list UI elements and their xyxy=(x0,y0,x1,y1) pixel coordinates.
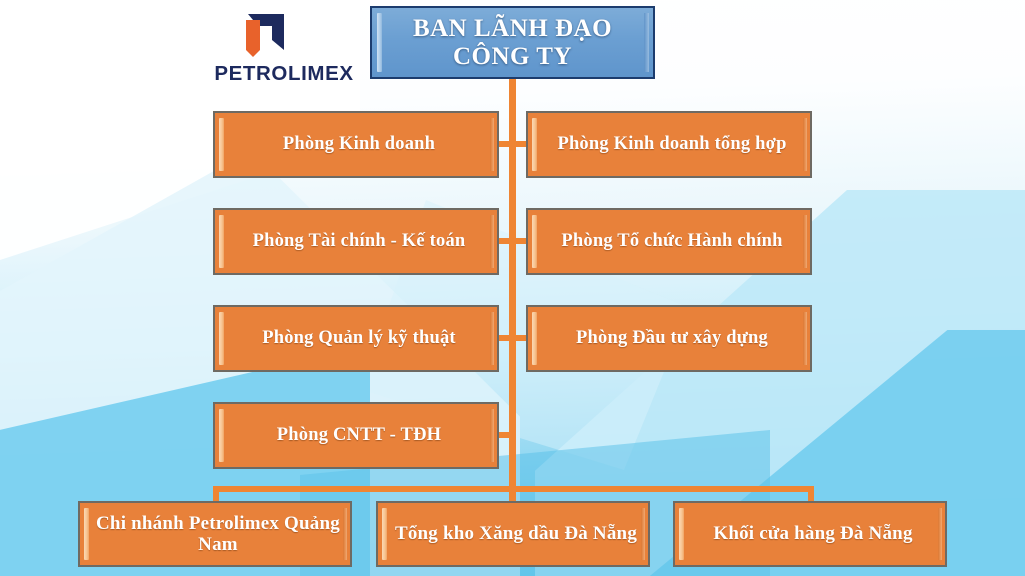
node-department-sales-label: Phòng Kinh doanh xyxy=(283,134,435,155)
connector-stub-left-3 xyxy=(497,335,513,341)
node-unit-petrolimex-quang-nam[interactable]: Chi nhánh Petrolimex Quảng Nam xyxy=(78,501,352,567)
org-chart-slide: PETROLIMEX BAN LÃNH ĐẠO CÔNG TY Phòng Ki… xyxy=(0,0,1025,576)
node-department-it-automation[interactable]: Phòng CNTT - TĐH xyxy=(213,402,499,469)
node-department-finance-accounting-label: Phòng Tài chính - Kế toán xyxy=(253,231,466,252)
node-department-general-business-label: Phòng Kinh doanh tổng hợp xyxy=(557,134,786,155)
petrolimex-logo: PETROLIMEX xyxy=(208,6,360,92)
node-department-investment-construction-label: Phòng Đầu tư xây dựng xyxy=(576,328,768,349)
node-unit-petrolimex-quang-nam-label: Chi nhánh Petrolimex Quảng Nam xyxy=(96,513,340,556)
node-unit-da-nang-depot-label: Tổng kho Xăng dầu Đà Nẵng xyxy=(395,523,637,544)
node-department-organization-admin[interactable]: Phòng Tổ chức Hành chính xyxy=(526,208,812,275)
node-department-organization-admin-label: Phòng Tổ chức Hành chính xyxy=(561,231,782,252)
logo-wordmark: PETROLIMEX xyxy=(208,62,360,86)
node-board-of-directors-label: BAN LÃNH ĐẠO CÔNG TY xyxy=(386,15,639,71)
node-unit-da-nang-stations[interactable]: Khối cửa hàng Đà Nẵng xyxy=(673,501,947,567)
petrolimex-arrow-logo-icon xyxy=(208,6,360,64)
node-unit-da-nang-depot[interactable]: Tổng kho Xăng dầu Đà Nẵng xyxy=(376,501,650,567)
connector-trunk-vertical xyxy=(509,78,516,490)
node-department-technical-management[interactable]: Phòng Quản lý kỹ thuật xyxy=(213,305,499,372)
node-department-technical-management-label: Phòng Quản lý kỹ thuật xyxy=(262,328,456,349)
node-department-investment-construction[interactable]: Phòng Đầu tư xây dựng xyxy=(526,305,812,372)
node-department-sales[interactable]: Phòng Kinh doanh xyxy=(213,111,499,178)
connector-stub-left-2 xyxy=(497,238,513,244)
node-department-finance-accounting[interactable]: Phòng Tài chính - Kế toán xyxy=(213,208,499,275)
node-department-general-business[interactable]: Phòng Kinh doanh tổng hợp xyxy=(526,111,812,178)
connector-stub-left-1 xyxy=(497,141,513,147)
node-department-it-automation-label: Phòng CNTT - TĐH xyxy=(277,425,441,446)
node-board-of-directors[interactable]: BAN LÃNH ĐẠO CÔNG TY xyxy=(370,6,655,79)
node-unit-da-nang-stations-label: Khối cửa hàng Đà Nẵng xyxy=(713,523,912,544)
connector-stub-left-4 xyxy=(497,432,513,438)
